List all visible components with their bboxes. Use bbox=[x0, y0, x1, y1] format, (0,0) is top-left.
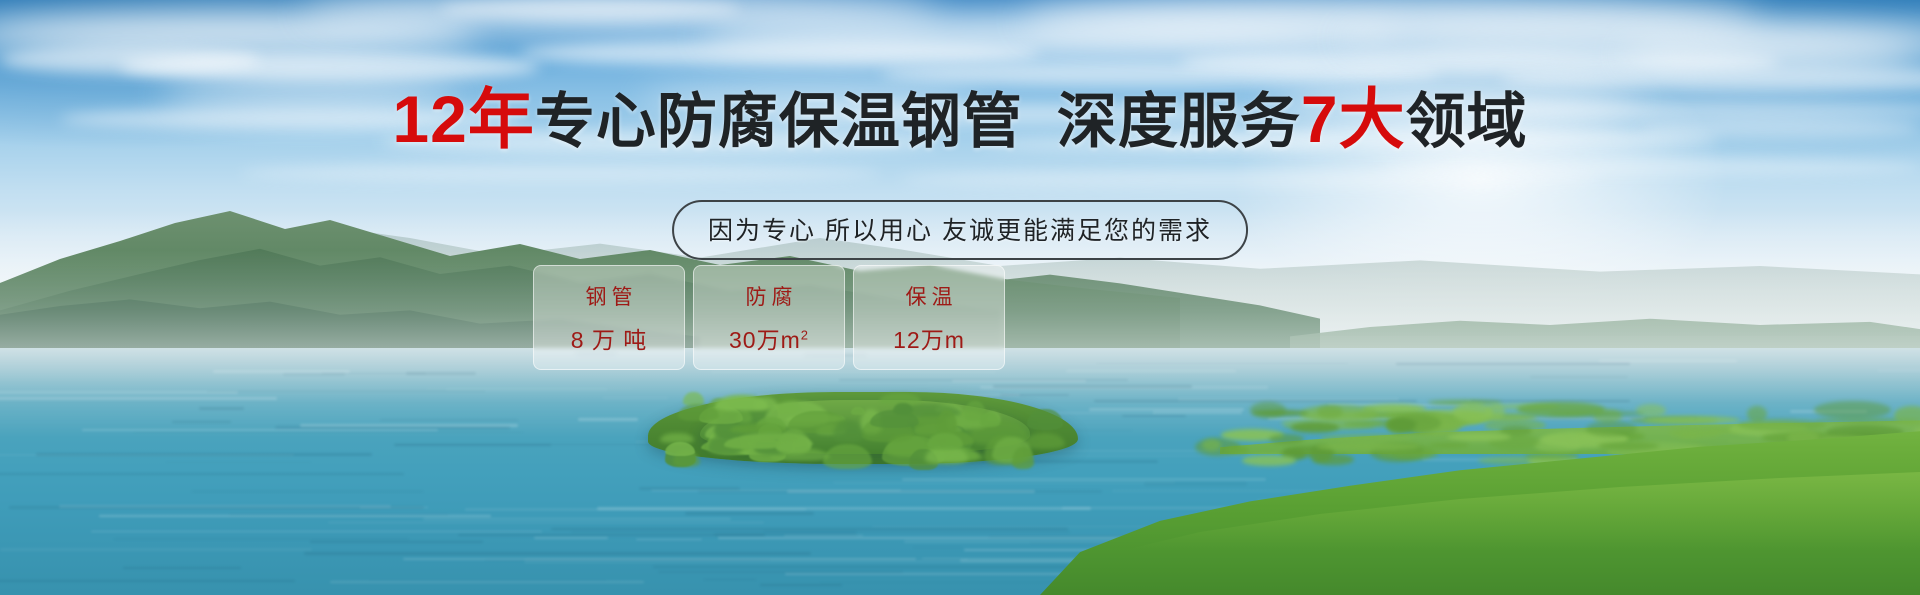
water-ripple bbox=[0, 397, 277, 400]
water-ripple bbox=[310, 541, 482, 543]
grass-tuft bbox=[833, 420, 862, 441]
marsh-patch bbox=[1392, 414, 1441, 432]
water-ripple bbox=[191, 490, 424, 493]
water-ripple bbox=[698, 490, 1102, 493]
headline-fields-number: 7 bbox=[1301, 82, 1339, 156]
water-ripple bbox=[597, 507, 1091, 510]
water-ripple bbox=[403, 558, 917, 559]
headline-service-text: 深度服务 bbox=[1057, 88, 1301, 155]
marsh-patch bbox=[1525, 452, 1579, 459]
headline-fields-text: 领域 bbox=[1406, 88, 1528, 155]
headline: 12年专心防腐保温钢管深度服务7大领域 bbox=[0, 86, 1920, 152]
water-ripple bbox=[458, 534, 766, 536]
water-ripple bbox=[1396, 363, 1630, 365]
grass-tuft bbox=[823, 444, 872, 468]
water-ripple bbox=[685, 512, 814, 514]
marsh-patch bbox=[1291, 422, 1339, 432]
stat-card-steel-pipe[interactable]: 钢管 8 万 吨 bbox=[533, 265, 685, 370]
water-ripple bbox=[304, 552, 812, 554]
water-ripple bbox=[902, 478, 1266, 481]
water-ripple bbox=[423, 518, 731, 520]
water-ripple bbox=[283, 373, 345, 376]
headline-years-number: 12 bbox=[392, 82, 467, 156]
water-ripple bbox=[0, 473, 404, 475]
water-ripple bbox=[1599, 360, 1737, 363]
water-ripple bbox=[578, 418, 638, 421]
stat-card-value-text: 8 万 吨 bbox=[571, 327, 648, 353]
water-ripple bbox=[1153, 411, 1242, 414]
stat-card-title: 保温 bbox=[901, 281, 958, 311]
marsh-patch bbox=[1738, 419, 1826, 431]
water-ripple bbox=[952, 380, 1087, 382]
stat-card-value-text: 12万m bbox=[893, 327, 965, 353]
water-ripple bbox=[784, 535, 863, 536]
water-ripple bbox=[207, 391, 485, 392]
water-ripple bbox=[406, 372, 476, 375]
water-ripple bbox=[636, 539, 702, 540]
water-ripple bbox=[0, 391, 238, 394]
water-ripple bbox=[199, 407, 244, 410]
grass-tuft bbox=[715, 395, 768, 411]
marsh-patch bbox=[1517, 402, 1605, 417]
grass-tuft bbox=[870, 410, 919, 428]
water-ripple bbox=[328, 522, 764, 523]
water-ripple bbox=[764, 531, 855, 532]
marsh-patch bbox=[1453, 403, 1494, 421]
water-ripple bbox=[534, 537, 607, 540]
water-ripple bbox=[123, 567, 241, 569]
water-ripple bbox=[658, 571, 903, 573]
marsh-patch bbox=[1894, 406, 1920, 425]
water-ripple bbox=[1122, 415, 1186, 417]
headline-fields-unit: 大 bbox=[1339, 82, 1406, 156]
water-ripple bbox=[0, 548, 311, 551]
stat-card-value-sup: 2 bbox=[801, 327, 809, 342]
water-ripple bbox=[524, 561, 1089, 563]
grass-tuft bbox=[678, 404, 720, 422]
stat-card-insulation[interactable]: 保温 12万m bbox=[853, 265, 1005, 370]
water-ripple bbox=[133, 432, 524, 433]
marsh-patch bbox=[1226, 446, 1249, 454]
water-ripple bbox=[639, 487, 740, 490]
water-ripple bbox=[1094, 400, 1417, 402]
hero-banner: 12年专心防腐保温钢管深度服务7大领域 因为专心 所以用心 友诚更能满足您的需求… bbox=[0, 0, 1920, 595]
water-ripple bbox=[1144, 482, 1248, 485]
grass-tuft bbox=[851, 407, 865, 416]
stat-card-anticorrosion[interactable]: 防腐 30万m2 bbox=[693, 265, 845, 370]
marsh-patch bbox=[1242, 455, 1296, 466]
water-ripple bbox=[993, 385, 1192, 388]
marsh-patch bbox=[1202, 439, 1221, 451]
water-ripple bbox=[300, 424, 518, 427]
water-ripple bbox=[0, 580, 295, 582]
marsh-patch bbox=[1636, 404, 1666, 417]
water-ripple bbox=[913, 547, 962, 548]
water-ripple bbox=[833, 482, 1175, 484]
stat-card-title: 钢管 bbox=[581, 281, 638, 311]
stat-card-value: 8 万 吨 bbox=[571, 321, 648, 355]
headline-main-text: 专心防腐保温钢管 bbox=[535, 88, 1023, 155]
stat-card-title: 防腐 bbox=[741, 281, 798, 311]
water-ripple bbox=[551, 528, 1068, 530]
grass-tuft bbox=[665, 442, 695, 455]
water-ripple bbox=[718, 537, 1146, 539]
marsh-patch bbox=[1598, 442, 1659, 450]
stat-card-group: 钢管 8 万 吨 防腐 30万m2 保温 12万m bbox=[533, 265, 1005, 370]
water-ripple bbox=[360, 507, 428, 508]
water-ripple bbox=[1066, 370, 1236, 371]
grass-tuft bbox=[740, 433, 799, 441]
water-ripple bbox=[114, 538, 409, 540]
grass-tuft bbox=[660, 433, 694, 443]
stat-card-value: 30万m2 bbox=[729, 321, 809, 355]
subtitle-pill: 因为专心 所以用心 友诚更能满足您的需求 bbox=[672, 200, 1248, 260]
water-ripple bbox=[603, 397, 668, 399]
stat-card-value: 12万m bbox=[893, 321, 965, 355]
headline-years-unit: 年 bbox=[468, 82, 535, 156]
grass-tuft bbox=[1012, 447, 1034, 469]
water-ripple bbox=[380, 419, 519, 421]
marsh-patch bbox=[1586, 421, 1637, 437]
marsh-patch bbox=[1252, 410, 1308, 416]
grass-tuft bbox=[1027, 409, 1063, 430]
water-ripple bbox=[99, 515, 491, 516]
water-ripple bbox=[172, 421, 231, 423]
water-ripple bbox=[712, 371, 995, 372]
stat-card-value-text: 30万m bbox=[729, 327, 801, 353]
marsh-patch bbox=[1269, 434, 1304, 444]
